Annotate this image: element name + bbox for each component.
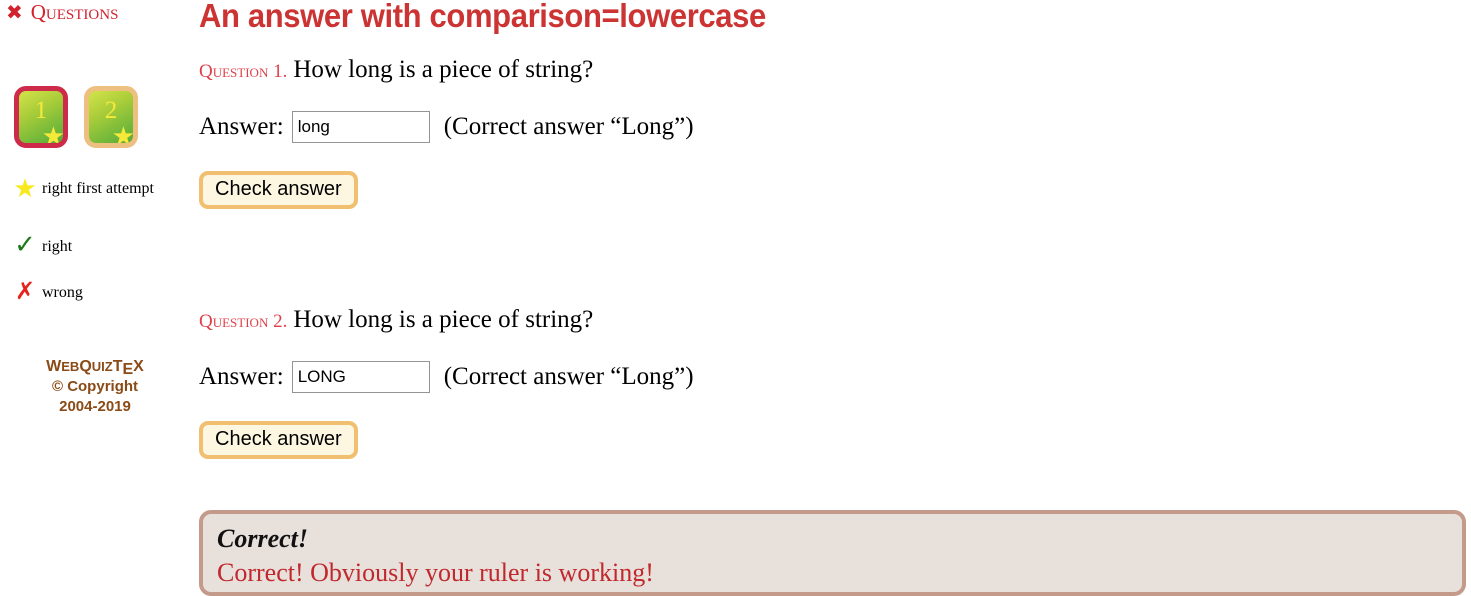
question-1-answer-input[interactable]	[292, 111, 430, 143]
question-1-number: Question 1.	[199, 57, 287, 87]
question-1-text: How long is a piece of string?	[293, 55, 593, 85]
question-block-1: Question 1. How long is a piece of strin…	[199, 55, 1459, 209]
star-icon: ★	[112, 124, 135, 148]
brand-x: X	[133, 358, 144, 375]
copyright-line-1: © Copyright	[0, 377, 190, 397]
legend-label-right: right	[42, 234, 72, 259]
question-1-heading: Question 1. How long is a piece of strin…	[199, 55, 1459, 87]
copyright-block: WEBQUIZTEX © Copyright 2004-2019	[0, 357, 190, 417]
question-1-check-answer-button[interactable]: Check answer	[199, 171, 358, 209]
question-1-answer-row: Answer: (Correct answer “Long”)	[199, 111, 1459, 143]
feedback-panel: Correct! Correct! Obviously your ruler i…	[199, 510, 1466, 596]
webquiztex-logo: WEBQUIZTEX	[0, 357, 190, 377]
question-1-correct-answer-hint: (Correct answer “Long”)	[444, 113, 694, 141]
brand-t: T	[113, 358, 123, 375]
page-title: An answer with comparison=lowercase	[199, 0, 766, 36]
cross-icon: ✗	[8, 280, 42, 302]
question-1-answer-label: Answer:	[199, 113, 284, 141]
legend-item-right: ✓ right	[8, 234, 72, 259]
brand-eb: EB	[61, 359, 79, 374]
legend-label-right-first-attempt: right first attempt	[42, 176, 154, 201]
brand-e: E	[123, 360, 134, 380]
question-2-answer-input[interactable]	[292, 361, 430, 393]
question-2-text: How long is a piece of string?	[293, 305, 593, 335]
question-button-1-number: 1	[19, 97, 63, 125]
question-button-1[interactable]: 1 ★	[14, 86, 68, 148]
star-icon: ★	[42, 124, 65, 148]
question-2-correct-answer-hint: (Correct answer “Long”)	[444, 363, 694, 391]
question-button-2-number: 2	[89, 97, 133, 125]
question-2-check-answer-button[interactable]: Check answer	[199, 421, 358, 459]
feedback-title: Correct!	[217, 522, 1448, 556]
brand-q: Q	[79, 358, 91, 375]
legend-item-wrong: ✗ wrong	[8, 280, 83, 305]
question-button-2[interactable]: 2 ★	[84, 86, 138, 148]
sidebar-header: ✖ Questions	[6, 0, 118, 24]
brand-uiz: UIZ	[92, 359, 113, 374]
question-2-answer-row: Answer: (Correct answer “Long”)	[199, 361, 1459, 393]
close-x-icon[interactable]: ✖	[6, 0, 23, 24]
star-icon: ★	[8, 176, 42, 202]
question-block-2: Question 2. How long is a piece of strin…	[199, 305, 1459, 459]
feedback-message: Correct! Obviously your ruler is working…	[217, 556, 1448, 590]
question-2-answer-label: Answer:	[199, 363, 284, 391]
questions-heading: Questions	[31, 0, 119, 24]
brand-w: W	[46, 358, 61, 375]
legend-item-right-first-attempt: ★ right first attempt	[8, 176, 154, 202]
copyright-line-2: 2004-2019	[0, 397, 190, 417]
question-button-list: 1 ★ 2 ★	[14, 86, 138, 148]
question-2-number: Question 2.	[199, 307, 287, 337]
sidebar: ✖ Questions 1 ★ 2 ★ ★ right first attemp…	[0, 0, 190, 593]
legend-label-wrong: wrong	[42, 280, 83, 305]
question-2-heading: Question 2. How long is a piece of strin…	[199, 305, 1459, 337]
check-icon: ✓	[8, 234, 42, 256]
